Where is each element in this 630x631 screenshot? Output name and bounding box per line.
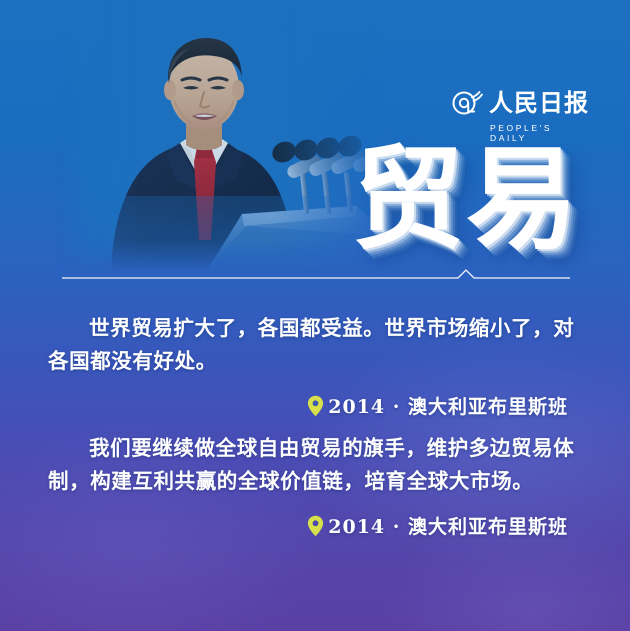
quote-text-2: 我们要继续做全球自由贸易的旗手，维护多边贸易体制，构建互利共赢的全球价值链，培育… (48, 432, 582, 498)
attribution-text-1: 2014 · 澳大利亚布里斯班 (328, 392, 568, 419)
speaker-at-podium-photo (56, 0, 386, 272)
quote-attribution-2: 2014 · 澳大利亚布里斯班 (48, 512, 582, 539)
peoples-daily-logo: 人民日报 PEOPLE'S DAILY (450, 88, 590, 136)
logo-chinese-name: 人民日报 (489, 91, 589, 115)
section-divider-line (62, 268, 570, 282)
page-title: 贸易 (352, 142, 580, 260)
quote-block-1: 世界贸易扩大了，各国都受益。世界市场缩小了，对各国都没有好处。 2014 · 澳… (48, 312, 582, 419)
logo-row: 人民日报 (450, 88, 589, 118)
location-pin-icon (307, 515, 324, 537)
photo-artwork (56, 0, 386, 272)
at-sign-wifi-icon (450, 88, 484, 118)
quote-block-2: 我们要继续做全球自由贸易的旗手，维护多边贸易体制，构建互利共赢的全球价值链，培育… (48, 432, 582, 539)
attribution-text-2: 2014 · 澳大利亚布里斯班 (328, 512, 568, 539)
quote-text-1: 世界贸易扩大了，各国都受益。世界市场缩小了，对各国都没有好处。 (48, 312, 582, 378)
quote-attribution-1: 2014 · 澳大利亚布里斯班 (48, 392, 582, 419)
poster-canvas: 人民日报 PEOPLE'S DAILY 贸易 世界贸易扩大了，各国都受益。世界市… (0, 0, 630, 631)
location-pin-icon (307, 395, 324, 417)
